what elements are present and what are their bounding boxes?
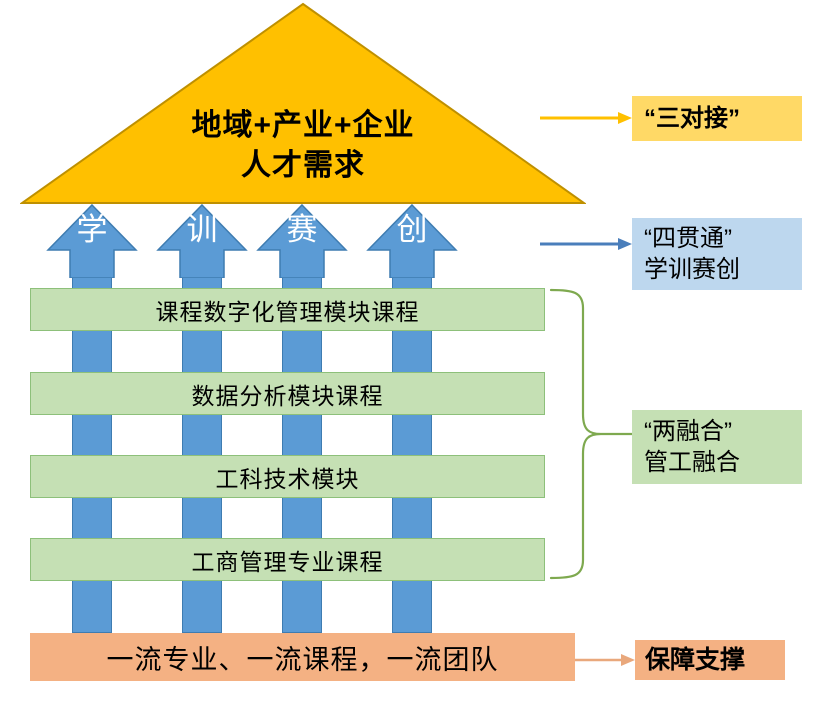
pillar-arrow-3: 赛: [256, 203, 348, 278]
module-bar-label-4: 工商管理专业课程: [192, 543, 384, 577]
callout-three-connect: “三对接”: [632, 96, 802, 141]
connector-brace-modules: [545, 286, 635, 582]
roof-triangle: 地域+产业+企业 人才需求: [20, 2, 586, 205]
callout-four-through: “四贯通” 学训赛创: [632, 218, 802, 290]
foundation-bar: 一流专业、一流课程，一流团队: [30, 633, 575, 681]
foundation-bar-label: 一流专业、一流课程，一流团队: [107, 638, 499, 677]
module-bar-2: 数据分析模块课程: [30, 372, 545, 415]
module-bar-label-1: 课程数字化管理模块课程: [156, 293, 420, 327]
callout-support: 保障支撑: [635, 640, 785, 680]
module-bar-3: 工科技术模块: [30, 455, 545, 498]
module-bar-1: 课程数字化管理模块课程: [30, 288, 545, 331]
pillar-arrow-2: 训: [156, 203, 248, 278]
callout-two-fusion: “两融合” 管工融合: [632, 410, 802, 484]
connector-arrow-foundation: [575, 650, 637, 670]
diagram-canvas: 地域+产业+企业 人才需求 学 训 赛 创 课程数字化管理模块课程: [0, 0, 825, 718]
pillar-arrow-1: 学: [46, 203, 138, 278]
callout-four-through-line2: 学训赛创: [644, 254, 740, 285]
pillar-arrow-4: 创: [366, 203, 458, 278]
callout-four-through-line1: “四贯通”: [644, 223, 732, 254]
callout-support-line1: 保障支撑: [645, 645, 745, 676]
connector-arrow-roof: [540, 108, 635, 128]
connector-arrow-pillars: [540, 234, 635, 254]
module-bar-4: 工商管理专业课程: [30, 538, 545, 581]
callout-two-fusion-line1: “两融合”: [644, 416, 732, 447]
callout-three-connect-line1: “三对接”: [644, 103, 740, 134]
module-bar-label-2: 数据分析模块课程: [192, 377, 384, 411]
callout-two-fusion-line2: 管工融合: [644, 447, 740, 478]
module-bar-label-3: 工科技术模块: [216, 460, 360, 494]
